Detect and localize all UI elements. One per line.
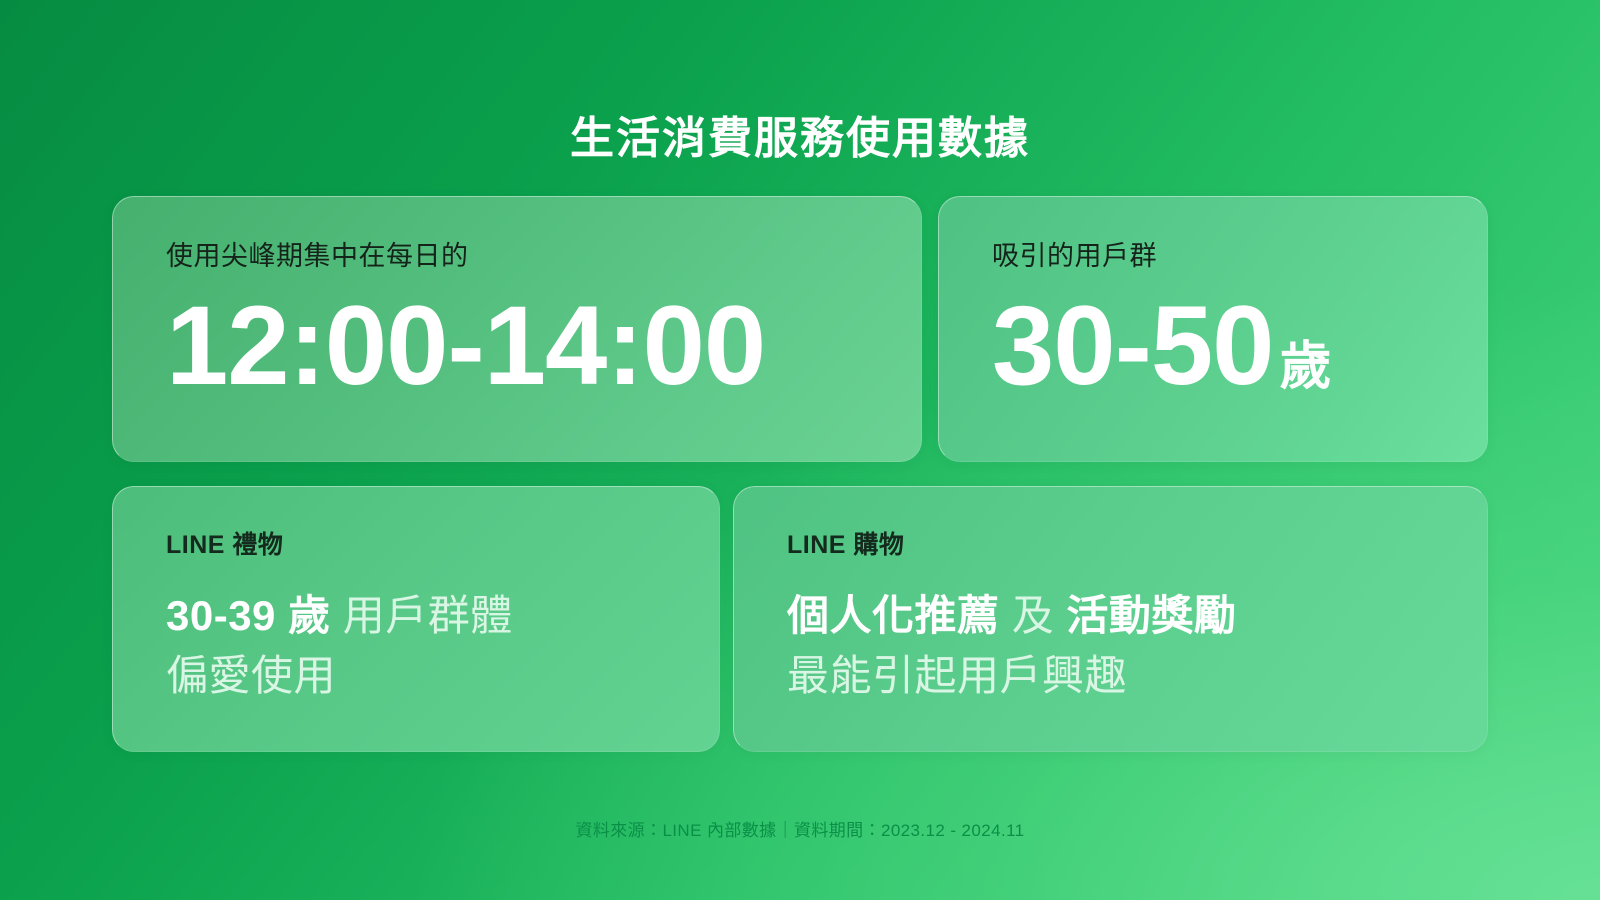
card-peak-hours: 使用尖峰期集中在每日的 12:00-14:00 [112, 196, 922, 462]
card-audience-age: 吸引的用戶群 30-50 歲 [938, 196, 1488, 462]
card-line-gift-brand: LINE 禮物 [166, 530, 666, 560]
stats-card-grid: 使用尖峰期集中在每日的 12:00-14:00 吸引的用戶群 30-50 歲 L… [112, 196, 1488, 752]
card-audience-age-stat: 30-50 歲 [992, 290, 1434, 402]
card-line-gift-age-range: 30-39 歲 [166, 592, 331, 639]
card-line-shopping-conjunction: 及 [1012, 592, 1055, 639]
card-line-shopping-outcome: 最能引起用戶興趣 [787, 652, 1127, 699]
card-peak-hours-stat: 12:00-14:00 [166, 290, 868, 402]
card-line-gift-line-1: 30-39 歲 用戶群體 [166, 586, 666, 646]
card-line-gift-segment: 用戶群體 [343, 592, 513, 639]
card-line-gift: LINE 禮物 30-39 歲 用戶群體 偏愛使用 [112, 486, 720, 752]
card-line-gift-behavior: 偏愛使用 [166, 652, 336, 699]
source-note: 資料來源：LINE 內部數據｜資料期間：2023.12 - 2024.11 [0, 816, 1600, 841]
card-peak-hours-value: 12:00-14:00 [166, 290, 765, 402]
card-line-shopping-line-2: 最能引起用戶興趣 [787, 646, 1434, 706]
card-line-gift-body: 30-39 歲 用戶群體 偏愛使用 [166, 586, 666, 705]
card-line-shopping-driver-b: 活動獎勵 [1066, 592, 1236, 639]
card-line-shopping-driver-a: 個人化推薦 [787, 592, 1000, 639]
card-line-shopping-brand: LINE 購物 [787, 530, 1434, 560]
card-line-shopping-line-1: 個人化推薦 及 活動獎勵 [787, 586, 1434, 646]
card-peak-hours-label: 使用尖峰期集中在每日的 [166, 240, 868, 272]
infographic-poster: 生活消費服務使用數據 使用尖峰期集中在每日的 12:00-14:00 吸引的用戶… [0, 0, 1600, 900]
card-audience-age-unit: 歲 [1279, 341, 1331, 393]
card-line-gift-line-2: 偏愛使用 [166, 646, 666, 706]
card-line-shopping-body: 個人化推薦 及 活動獎勵 最能引起用戶興趣 [787, 586, 1434, 705]
page-title: 生活消費服務使用數據 [0, 115, 1600, 163]
card-line-shopping: LINE 購物 個人化推薦 及 活動獎勵 最能引起用戶興趣 [733, 486, 1488, 752]
card-audience-age-value: 30-50 [992, 290, 1273, 402]
card-audience-age-label: 吸引的用戶群 [992, 240, 1434, 272]
